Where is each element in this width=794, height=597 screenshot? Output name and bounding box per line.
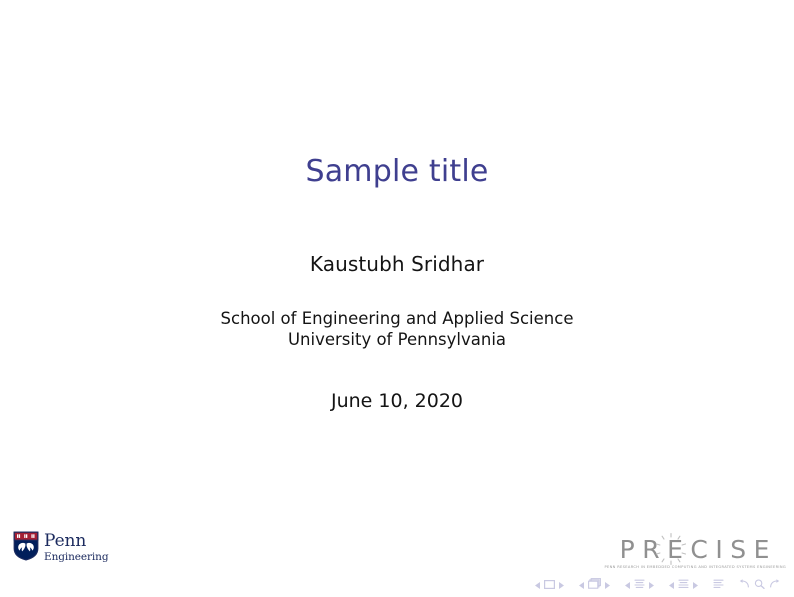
nav-group-document[interactable]	[711, 576, 726, 592]
precise-tagline: PENN RESEARCH IN EMBEDDED COMPUTING AND …	[605, 565, 787, 569]
beamer-navigation-bar[interactable]	[533, 577, 782, 591]
slide-next-arrow-icon[interactable]	[559, 576, 564, 592]
institute-line-university: University of Pennsylvania	[0, 329, 794, 350]
precise-wordmark: PRECISE	[605, 537, 787, 562]
institute-line-school: School of Engineering and Applied Scienc…	[0, 308, 794, 329]
frame-icon[interactable]	[588, 576, 601, 592]
institute-block: School of Engineering and Applied Scienc…	[0, 308, 794, 351]
nav-group-slide[interactable]	[533, 576, 566, 592]
forward-arrow-icon[interactable]	[769, 576, 780, 592]
slide-icon[interactable]	[544, 576, 555, 592]
penn-wordmark: Penn Engineering	[44, 533, 108, 563]
penn-engineering-logo: Penn Engineering	[13, 531, 108, 565]
presentation-title: Sample title	[0, 155, 794, 190]
section-prev-arrow-icon[interactable]	[669, 576, 674, 592]
beamer-title-slide: Sample title Kaustubh Sridhar School of …	[0, 0, 794, 597]
section-icon[interactable]	[678, 576, 689, 592]
penn-shield-icon	[13, 531, 39, 565]
subsection-icon[interactable]	[634, 576, 645, 592]
author-name: Kaustubh Sridhar	[0, 252, 794, 276]
back-arrow-icon[interactable]	[739, 576, 750, 592]
penn-wordmark-secondary: Engineering	[44, 552, 108, 563]
subsection-next-arrow-icon[interactable]	[649, 576, 654, 592]
section-next-arrow-icon[interactable]	[693, 576, 698, 592]
search-icon[interactable]	[754, 576, 765, 592]
nav-group-section[interactable]	[667, 576, 700, 592]
nav-group-subsection[interactable]	[623, 576, 656, 592]
frame-prev-arrow-icon[interactable]	[579, 576, 584, 592]
precise-logo: PRECISE PENN RESEARCH IN EMBEDDED COMPUT…	[605, 537, 787, 569]
document-icon[interactable]	[713, 576, 724, 592]
presentation-date: June 10, 2020	[0, 390, 794, 412]
nav-group-history[interactable]	[737, 576, 782, 592]
title-block: Sample title Kaustubh Sridhar School of …	[0, 155, 794, 412]
penn-wordmark-primary: Penn	[44, 533, 108, 550]
slide-prev-arrow-icon[interactable]	[535, 576, 540, 592]
nav-group-frame[interactable]	[577, 576, 612, 592]
subsection-prev-arrow-icon[interactable]	[625, 576, 630, 592]
frame-next-arrow-icon[interactable]	[605, 576, 610, 592]
